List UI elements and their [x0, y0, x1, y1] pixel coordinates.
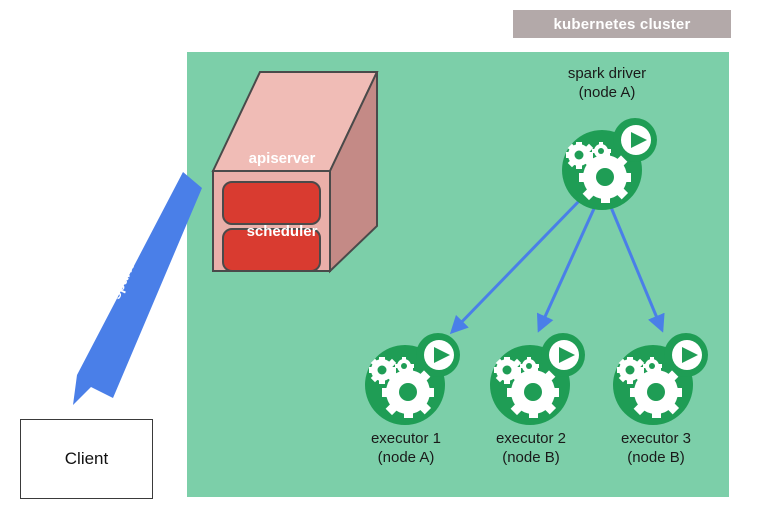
spark-gears-icon — [613, 333, 708, 425]
executor-1-caption-line1: executor 1 — [336, 429, 476, 448]
executor-3-caption-line1: executor 3 — [586, 429, 726, 448]
executor-2-caption: executor 2 (node B) — [461, 429, 601, 467]
spark-submit-arrow — [55, 160, 215, 410]
executor-3-icon — [608, 330, 708, 430]
spark-driver-caption-line1: spark driver — [537, 64, 677, 83]
scheduler-box-label: scheduler — [222, 203, 342, 259]
executor-2-icon — [485, 330, 585, 430]
spark-gears-icon — [365, 333, 460, 425]
spark-driver-caption: spark driver (node A) — [537, 64, 677, 102]
executor-3-caption-line2: (node B) — [586, 448, 726, 467]
executor-2-caption-line2: (node B) — [461, 448, 601, 467]
executor-1-caption-line2: (node A) — [336, 448, 476, 467]
executor-2-caption-line1: executor 2 — [461, 429, 601, 448]
client-box: Client — [20, 419, 153, 499]
executor-1-caption: executor 1 (node A) — [336, 429, 476, 467]
diagram-canvas: kubernetes cluster apiserver scheduler — [0, 0, 761, 516]
spark-gears-icon — [490, 333, 585, 425]
kubernetes-cluster-badge: kubernetes cluster — [513, 10, 731, 38]
spark-driver-icon — [557, 115, 657, 215]
executor-3-caption: executor 3 (node B) — [586, 429, 726, 467]
apiserver-box-label: apiserver — [222, 130, 342, 186]
executor-1-icon — [360, 330, 460, 430]
client-label: Client — [65, 449, 108, 469]
spark-driver-caption-line2: (node A) — [537, 83, 677, 102]
spark-gears-icon — [562, 118, 657, 210]
